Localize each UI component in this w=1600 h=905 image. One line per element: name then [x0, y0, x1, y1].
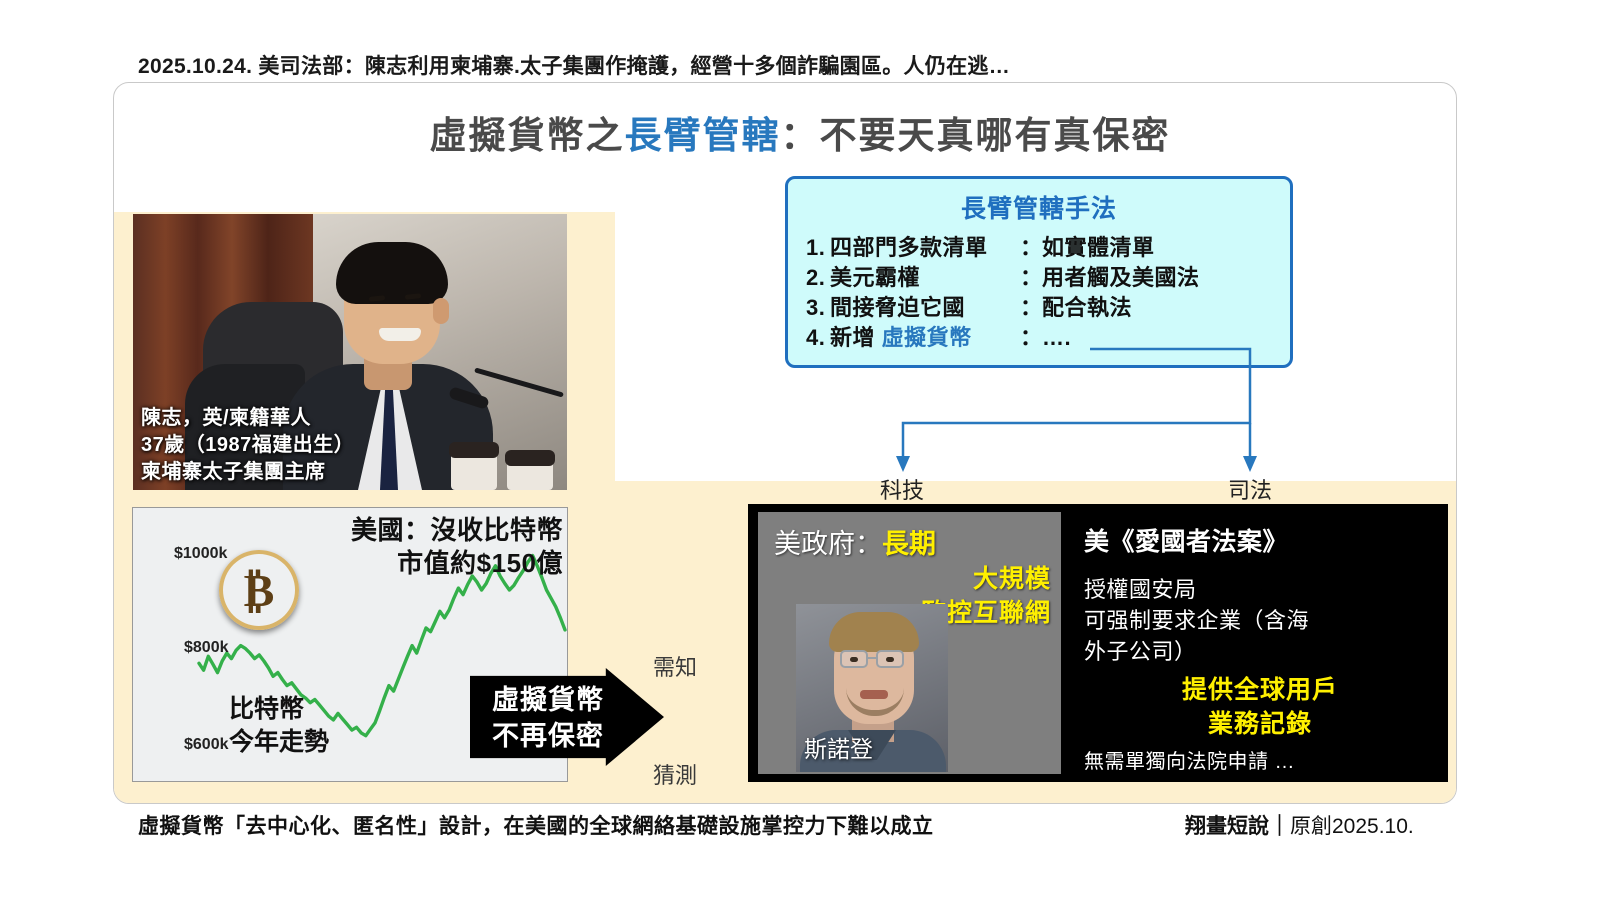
y-axis-tick-600k: $600k	[184, 736, 229, 754]
title-part-1: 虛擬貨幣之	[430, 115, 625, 156]
item-left-plain: 新增	[830, 325, 882, 350]
methods-list-item: 1. 四部門多款清單 ： 如實體清單	[806, 233, 1290, 263]
yellow-line-1: 大規模	[758, 562, 1051, 596]
item-number: 4.	[806, 323, 830, 353]
caption-line-1: 陳志，英/柬籍華人	[141, 405, 354, 432]
item-number: 2.	[806, 263, 830, 293]
surveillance-and-law-panel: 美政府：長期 大規模 監控互聯網 斯諾登	[748, 504, 1448, 782]
footer-summary: 虛擬貨幣「去中心化、匿名性」設計，在美國的全球網絡基礎設施掌控力下難以成立	[138, 810, 934, 840]
patriot-act-body: 授權國安局 可强制要求企業（含海 外子公司）	[1084, 574, 1436, 667]
page-headline: 2025.10.24. 美司法部：陳志利用柬埔寨.太子集團作掩護，經營十多個詐騙…	[138, 50, 1010, 80]
methods-list: 1. 四部門多款清單 ： 如實體清單 2. 美元霸權 ： 用者觸及美國法 3. …	[788, 233, 1290, 353]
snowden-mouth	[860, 690, 888, 699]
caption-line-3: 柬埔寨太子集團主席	[141, 459, 354, 486]
item-right: 如實體清單	[1042, 233, 1155, 263]
patriot-act-footnote: 無需單獨向法院申請 …	[1084, 745, 1436, 774]
photo-mouth	[379, 328, 421, 341]
glasses-bridge-icon	[868, 657, 876, 659]
methods-list-item: 4. 新增 虛擬貨幣 ： ….	[806, 323, 1290, 353]
item-colon: ：	[1020, 323, 1042, 353]
methods-list-item: 3. 間接脅迫它國 ： 配合執法	[806, 293, 1290, 323]
y-axis-tick-1000k: $1000k	[174, 545, 227, 563]
y-axis-tick-800k: $800k	[184, 639, 229, 657]
item-colon: ：	[1020, 263, 1042, 293]
item-left: 新增 虛擬貨幣	[830, 323, 1020, 353]
branch-label-law: 司法	[1228, 473, 1272, 505]
photo-cup-1-lid	[449, 442, 499, 458]
body-line-1: 授權國安局	[1084, 574, 1436, 605]
snowden-hair	[829, 612, 919, 652]
item-right: 用者觸及美國法	[1042, 263, 1200, 293]
arrow-line-1: 虛擬貨幣	[492, 682, 604, 718]
branch-label-tech: 科技	[880, 473, 924, 505]
patriot-act-highlight: 提供全球用戶 業務記錄	[1084, 673, 1436, 741]
patriot-act-column: 美《愛國者法案》 授權國安局 可强制要求企業（含海 外子公司） 提供全球用戶 業…	[1084, 522, 1436, 774]
arrow-text: 虛擬貨幣 不再保密	[492, 682, 604, 754]
footer-credit: 翔畫短說｜原創2025.10.	[1185, 810, 1414, 840]
transition-arrow: 虛擬貨幣 不再保密	[470, 668, 664, 766]
chart-title: 美國：沒收比特幣	[233, 514, 563, 547]
body-line-3: 外子公司）	[1084, 636, 1436, 667]
snowden-eye-right	[886, 657, 894, 662]
chart-subtitle: 市值約$150億	[233, 547, 563, 580]
item-colon: ：	[1020, 233, 1042, 263]
page-title: 虛擬貨幣之長臂管轄：不要天真哪有真保密	[0, 105, 1600, 159]
highlight-line-1: 提供全球用戶	[1084, 673, 1436, 707]
chart-note-line-1: 比特幣	[229, 693, 329, 726]
chen-zhi-photo: 陳志，英/柬籍華人 37歲（1987福建出生） 柬埔寨太子集團主席	[133, 214, 567, 490]
photo-ear	[433, 298, 449, 324]
chart-note-line-2: 今年走勢	[229, 726, 329, 759]
label-need-to-know: 需知	[653, 650, 697, 682]
footer-origin: 原創2025.10.	[1290, 815, 1414, 838]
gov-highlight: 長期	[882, 529, 936, 559]
item-left: 四部門多款清單	[830, 233, 1020, 263]
caption-line-2: 37歲（1987福建出生）	[141, 432, 354, 459]
gov-prefix: 美政府：	[774, 529, 882, 559]
snowden-eye-left	[850, 657, 858, 662]
item-right: 配合執法	[1042, 293, 1132, 323]
title-part-2: ：不要天真哪有真保密	[781, 115, 1171, 156]
methods-list-item: 2. 美元霸權 ： 用者觸及美國法	[806, 263, 1290, 293]
chart-title-block: 美國：沒收比特幣 市值約$150億	[233, 514, 563, 580]
highlight-line-2: 業務記錄	[1084, 707, 1436, 741]
photo-hair	[336, 242, 448, 304]
photo-cup-2-lid	[505, 450, 555, 466]
title-highlight: 長臂管轄	[625, 115, 781, 156]
item-left: 間接脅迫它國	[830, 293, 1020, 323]
gov-headline: 美政府：長期	[774, 522, 936, 561]
item-number: 1.	[806, 233, 830, 263]
item-left-highlight: 虛擬貨幣	[882, 325, 972, 350]
item-number: 3.	[806, 293, 830, 323]
item-left: 美元霸權	[830, 263, 1020, 293]
arrow-line-2: 不再保密	[492, 718, 604, 754]
chart-note-block: 比特幣 今年走勢	[229, 693, 329, 759]
item-colon: ：	[1020, 293, 1042, 323]
snowden-caption: 斯諾登	[804, 730, 873, 764]
photo-caption: 陳志，英/柬籍華人 37歲（1987福建出生） 柬埔寨太子集團主席	[141, 405, 354, 486]
surveillance-card: 美政府：長期 大規模 監控互聯網 斯諾登	[758, 512, 1061, 774]
methods-box-title: 長臂管轄手法	[788, 189, 1290, 225]
body-line-2: 可强制要求企業（含海	[1084, 605, 1436, 636]
long-arm-methods-box: 長臂管轄手法 1. 四部門多款清單 ： 如實體清單 2. 美元霸權 ： 用者觸及…	[785, 176, 1293, 368]
footer-brand: 翔畫短說｜	[1185, 815, 1290, 838]
label-speculation: 猜測	[653, 758, 697, 790]
snowden-photo: 斯諾登	[796, 604, 948, 772]
patriot-act-title: 美《愛國者法案》	[1084, 522, 1436, 558]
item-right: ….	[1042, 323, 1071, 353]
